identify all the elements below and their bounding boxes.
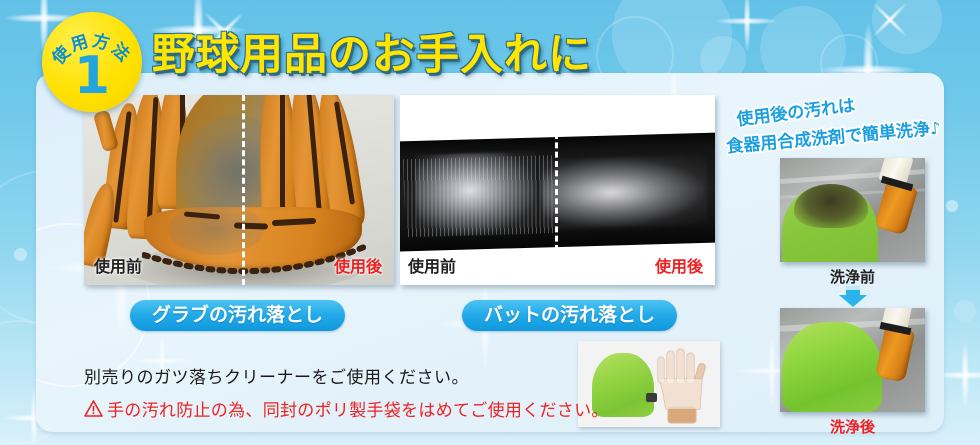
- wash-before-caption: 洗浄前: [780, 266, 925, 287]
- glove-stitching: [142, 241, 366, 275]
- footer-instructions: 別売りのガツ落ちクリーナーをご使用ください。 手の汚れ防止の為、同封のポリ製手袋…: [84, 363, 609, 421]
- footer-line-2-row: 手の汚れ防止の為、同封のポリ製手袋をはめてご使用ください。: [84, 396, 609, 421]
- glove-lacing: [234, 222, 268, 229]
- wash-after-caption: 洗浄後: [780, 416, 925, 437]
- footer-line-1: 別売りのガツ落ちクリーナーをご使用ください。: [84, 363, 609, 388]
- glove-after-label: 使用後: [334, 253, 382, 277]
- bubble-decor: [14, 248, 27, 261]
- sparkle-decor: [866, 0, 914, 44]
- warning-triangle-icon: [84, 400, 103, 417]
- glove-before-label: 使用前: [94, 253, 142, 277]
- handwritten-note: 使用後の汚れは 食器用合成洗剤で簡単洗浄♪: [726, 96, 970, 160]
- bat-before-label: 使用前: [408, 253, 456, 277]
- bat-caption-pill: バットの汚れ落とし: [462, 300, 677, 331]
- badge-number: 1: [42, 50, 142, 102]
- before-after-divider: [555, 133, 558, 251]
- step-badge: 使用方法 1: [42, 12, 142, 112]
- arrow-down-icon: [838, 286, 868, 308]
- glove-comparison-photo: 使用前 使用後: [84, 95, 394, 285]
- page-title: 野球用品のお手入れに: [152, 20, 592, 82]
- bat-comparison-photo: 使用前 使用後: [400, 95, 715, 285]
- glove-caption-pill: グラブの汚れ落とし: [130, 300, 345, 331]
- sparkle-decor: [716, 0, 778, 52]
- before-after-divider: [242, 95, 245, 285]
- bubble-decor: [872, 0, 942, 54]
- footer-line-2: 手の汚れ防止の為、同封のポリ製手袋をはめてご使用ください。: [107, 396, 609, 421]
- wash-after-photo: [780, 308, 925, 412]
- wash-before-photo: [780, 158, 925, 262]
- bat-scuff-streaks: [403, 155, 555, 237]
- clean-mitt: [782, 322, 882, 412]
- bat-after-label: 使用後: [655, 253, 703, 277]
- instruction-graphic: 野球用品のお手入れに 使用方法 1: [0, 0, 980, 445]
- mitt-dirt-stain: [794, 184, 868, 228]
- poly-glove-hand: [654, 347, 712, 425]
- bat-clean-gloss: [541, 155, 708, 230]
- bubble-decor: [946, 200, 958, 212]
- bubble-decor: [954, 300, 976, 322]
